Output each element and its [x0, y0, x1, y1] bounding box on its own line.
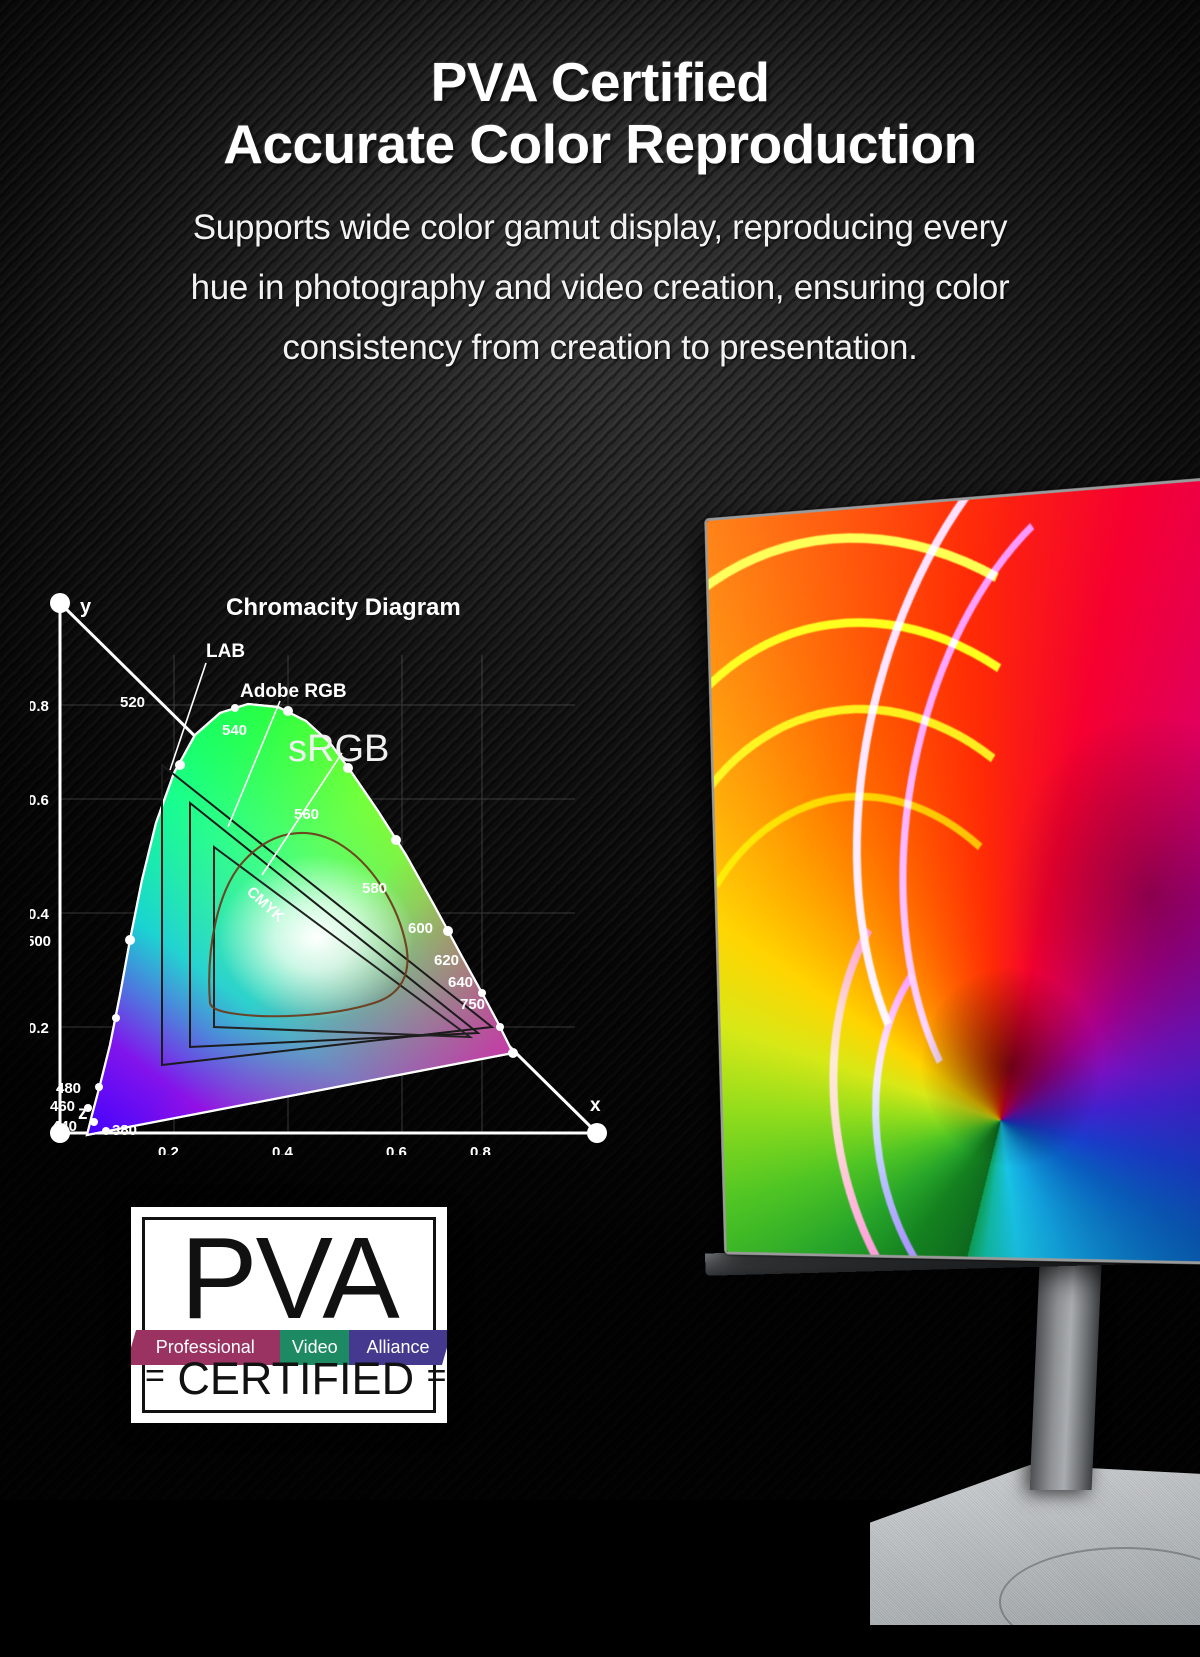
- y-tick-0.8: 0.8: [30, 698, 49, 715]
- page-title-line-1: PVA Certified: [0, 52, 1200, 112]
- monitor-panel: [704, 476, 1200, 1266]
- header: PVA Certified Accurate Color Reproductio…: [0, 0, 1200, 378]
- wavelength-540: 540: [222, 722, 247, 739]
- y-tick-0.4: 0.4: [30, 906, 50, 923]
- pva-certified-word: CERTIFIED: [177, 1353, 414, 1404]
- monitor-stand-neck: [1030, 1245, 1103, 1490]
- wavelength-460: 460: [50, 1098, 75, 1115]
- subtitle-line-3: consistency from creation to presentatio…: [0, 318, 1200, 378]
- wavelength-620: 620: [434, 952, 459, 969]
- wavelength-500: 500: [30, 933, 51, 950]
- page-title-line-2: Accurate Color Reproduction: [0, 112, 1200, 176]
- y-axis-endpoint-dot: [50, 593, 70, 613]
- wavelength-600: 600: [408, 920, 433, 937]
- wavelength-560: 560: [294, 806, 319, 823]
- pva-logo-letters: PVA: [145, 1218, 433, 1338]
- subtitle-line-1: Supports wide color gamut display, repro…: [0, 198, 1200, 258]
- lab-label: LAB: [206, 641, 245, 662]
- pva-equals-left: =: [145, 1357, 165, 1395]
- x-tick-0.6: 0.6: [386, 1144, 407, 1155]
- subtitle-line-2: hue in photography and video creation, e…: [0, 258, 1200, 318]
- x-tick-0.2: 0.2: [158, 1144, 179, 1155]
- x-tick-0.8: 0.8: [470, 1144, 491, 1155]
- x-tick-0.4: 0.4: [272, 1144, 294, 1155]
- x-axis-endpoint-dot: [587, 1123, 607, 1143]
- y-tick-0.6: 0.6: [30, 792, 49, 809]
- wavelength-580: 580: [362, 880, 387, 897]
- wavelength-640: 640: [448, 974, 473, 991]
- srgb-label: sRGB: [288, 728, 389, 770]
- adobe-rgb-label: Adobe RGB: [240, 681, 347, 702]
- pva-certified-logo: PVA Professional Video Alliance = CERTIF…: [131, 1207, 447, 1423]
- wavelength-520: 520: [120, 694, 145, 711]
- y-tick-0.2: 0.2: [30, 1020, 49, 1037]
- y-axis-label: y: [80, 596, 92, 618]
- pva-equals-right: =: [427, 1357, 447, 1395]
- pva-logo-frame: PVA Professional Video Alliance = CERTIF…: [142, 1217, 436, 1413]
- wavelength-750: 750: [460, 996, 485, 1013]
- chromaticity-diagram: CMYK LAB Adobe RGB sRGB Chromacity Diagr…: [30, 575, 610, 1155]
- monitor-screen: [707, 479, 1200, 1262]
- x-axis-label: x: [590, 1095, 601, 1116]
- wavelength-480: 480: [56, 1080, 81, 1097]
- wavelength-440: 440: [52, 1118, 77, 1135]
- page-subtitle: Supports wide color gamut display, repro…: [0, 198, 1200, 378]
- spectral-locus-gamut: [30, 575, 610, 1155]
- chart-title: Chromacity Diagram: [226, 594, 461, 621]
- pva-certified-text-row: = CERTIFIED =: [145, 1348, 433, 1404]
- monitor-product-image: [640, 455, 1200, 1500]
- wavelength-380: 380: [112, 1122, 137, 1139]
